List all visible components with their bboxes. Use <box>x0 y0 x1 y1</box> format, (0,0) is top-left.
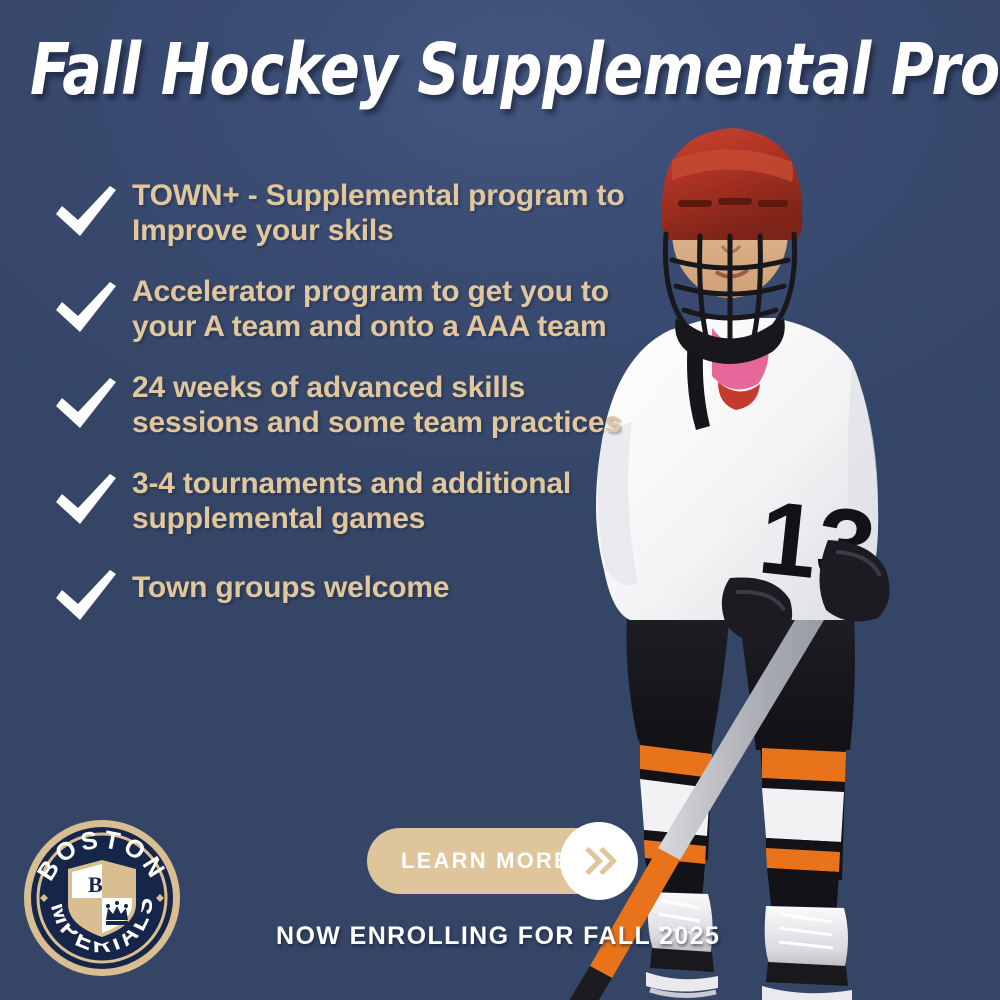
crown-icon <box>106 901 128 925</box>
list-item: TOWN+ - Supplemental program to Improve … <box>48 178 648 248</box>
right-skate <box>762 906 852 1000</box>
shield-letter: B <box>88 872 103 897</box>
learn-more-label: LEARN MORE <box>401 848 571 874</box>
boston-imperials-logo: BOSTON IMPERIALS B <box>22 818 182 978</box>
double-chevron-right-icon[interactable] <box>560 822 638 900</box>
learn-more-button[interactable]: LEARN MORE <box>367 828 632 894</box>
list-item: Town groups welcome <box>48 562 648 626</box>
check-icon <box>48 274 132 338</box>
list-item: Accelerator program to get you to your A… <box>48 274 648 344</box>
list-item: 3-4 tournaments and additional supplemen… <box>48 466 648 536</box>
feature-list: TOWN+ - Supplemental program to Improve … <box>48 178 648 652</box>
check-icon <box>48 178 132 242</box>
list-item-label: 24 weeks of advanced skills sessions and… <box>132 370 637 440</box>
list-item-label: Accelerator program to get you to your A… <box>132 274 637 344</box>
page-title: Fall Hockey Supplemental Program <box>30 32 895 108</box>
check-icon <box>48 466 132 530</box>
list-item-label: Town groups welcome <box>132 562 449 605</box>
enrollment-banner: NOW ENROLLING FOR FALL 2025 <box>276 922 720 951</box>
check-icon <box>48 370 132 434</box>
list-item: 24 weeks of advanced skills sessions and… <box>48 370 648 440</box>
check-icon <box>48 562 132 626</box>
list-item-label: 3-4 tournaments and additional supplemen… <box>132 466 637 536</box>
list-item-label: TOWN+ - Supplemental program to Improve … <box>132 178 637 248</box>
promo-poster: Fall Hockey Supplemental Program <box>0 0 1000 1000</box>
